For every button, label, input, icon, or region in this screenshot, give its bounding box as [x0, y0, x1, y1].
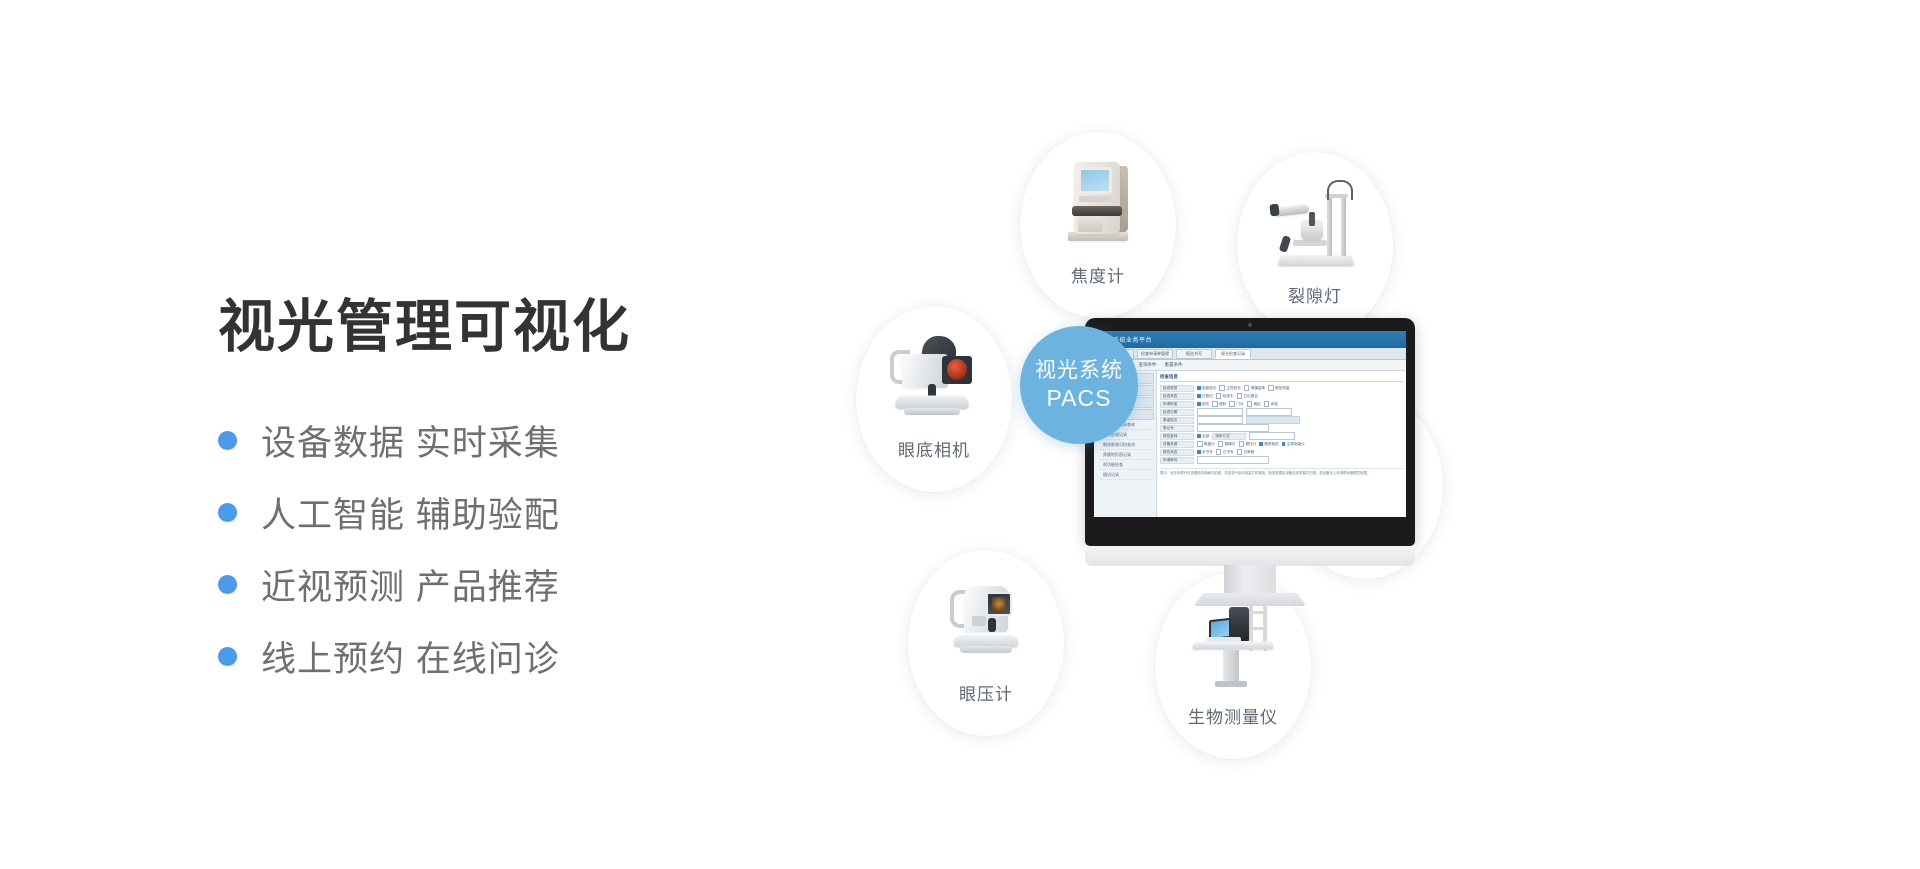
checkbox-option[interactable]: 角膜曲率 [1244, 385, 1265, 391]
tab-exam-request[interactable]: 检查申请单管理 [1137, 349, 1173, 359]
sidebar-subitem-fundus-archive[interactable]: 眼底影像归档查询 [1100, 441, 1154, 450]
sidebar-subitem-visual-function[interactable]: 视功能检查 [1100, 461, 1154, 470]
device-label: 裂隙灯 [1288, 282, 1342, 307]
bullet-dot-icon [218, 647, 237, 666]
checkbox-option[interactable]: 门诊 [1229, 401, 1243, 407]
hub-acronym: PACS [1047, 384, 1112, 413]
sidebar-subitem-followup[interactable]: 随访记录 [1100, 471, 1154, 480]
radio-option[interactable]: 未书写 [1197, 450, 1213, 455]
request-number-input[interactable] [1197, 456, 1269, 465]
left-content-panel: 视光管理可视化 设备数据 实时采集 人工智能 辅助验配 近视预测 产品推荐 线上… [218, 296, 778, 693]
field-label: 报告医师 [1160, 433, 1194, 440]
device-node-slit-lamp[interactable]: 裂隙灯 [1237, 152, 1393, 338]
app-titlebar: 视光系统业务平台 [1094, 331, 1406, 348]
radio-option[interactable]: 已审核 [1237, 449, 1255, 455]
table-row: 检查状态 已登记 检查中 已出报告 [1160, 392, 1403, 400]
device-label: 眼压计 [959, 680, 1013, 705]
app-form-area: 检查信息 检查类型 电脑验光 主觉验光 角膜曲率 眼压测量 检查状态 已登记 [1157, 371, 1406, 517]
radio-option[interactable]: 全部 [1197, 434, 1209, 439]
checkbox-option[interactable]: 生物测量仪 [1282, 442, 1305, 447]
monitor-bezel: 视光系统业务平台 患者信息登记 检查申请单管理 报告书写 视光检查记录 新增检查… [1085, 318, 1415, 546]
bullet-dot-icon [218, 431, 237, 450]
page-title: 视光管理可视化 [218, 296, 778, 359]
list-item: 线上预约 在线问诊 [218, 621, 778, 693]
checkbox-option[interactable]: 眼压测量 [1268, 385, 1289, 391]
field-label: 检查类型 [1160, 385, 1194, 392]
device-ecosystem-diagram: 视光系统业务平台 患者信息登记 检查申请单管理 报告书写 视光检查记录 新增检查… [900, 60, 1920, 820]
field-label: 报告状态 [1160, 449, 1194, 456]
monitor-stand-neck [1224, 565, 1276, 595]
webcam-icon [1248, 323, 1252, 327]
checkbox-option[interactable]: 眼科 [1212, 401, 1226, 407]
device-label: 眼底相机 [898, 436, 970, 461]
feature-list: 设备数据 实时采集 人工智能 辅助验配 近视预测 产品推荐 线上预约 在线问诊 [218, 405, 778, 693]
toolbar-query-button[interactable]: 查询条件 [1139, 362, 1157, 368]
bullet-dot-icon [218, 575, 237, 594]
lensmeter-icon [1048, 154, 1148, 258]
slit-lamp-icon [1265, 174, 1365, 278]
field-label: 排序方式 [1212, 433, 1246, 440]
monitor-chin [1085, 546, 1415, 566]
form-footer-note: 提示：双击列表行可查看检查明细与影像；勾选多行后可批量打印报告。检查数据由设备自… [1160, 468, 1403, 476]
checkbox-option[interactable]: 焦度计 [1197, 441, 1215, 447]
desktop-monitor: 视光系统业务平台 患者信息登记 检查申请单管理 报告书写 视光检查记录 新增检查… [1085, 318, 1415, 608]
device-label: 焦度计 [1071, 262, 1125, 287]
feature-label: 设备数据 实时采集 [261, 415, 560, 466]
tonometer-icon [936, 572, 1036, 676]
checkbox-option[interactable]: 检查中 [1216, 393, 1234, 399]
sidebar-subitem-topography[interactable]: 角膜地形图记录 [1100, 451, 1154, 460]
form-panel-title: 检查信息 [1160, 374, 1403, 382]
checkbox-option[interactable]: 已出报告 [1237, 393, 1258, 399]
table-row: 申请单号 [1160, 456, 1403, 464]
field-label: 检查日期 [1160, 409, 1194, 416]
list-item: 近视预测 产品推荐 [218, 549, 778, 621]
list-item: 人工智能 辅助验配 [218, 477, 778, 549]
checkbox-option[interactable]: 裂隙灯 [1218, 441, 1236, 447]
sort-order-select[interactable] [1249, 432, 1295, 441]
feature-label: 近视预测 产品推荐 [261, 559, 560, 610]
tab-optometry-records[interactable]: 视光检查记录 [1215, 349, 1251, 359]
table-row: 报告医师 全部 排序方式 [1160, 432, 1403, 440]
checkbox-option[interactable]: 已登记 [1197, 394, 1213, 399]
feature-label: 线上预约 在线问诊 [261, 631, 560, 682]
field-label: 设备来源 [1160, 441, 1194, 448]
app-toolbar: 新增检查申请单 查询条件 重置条件 [1094, 360, 1406, 371]
monitor-stand-base [1194, 593, 1306, 606]
app-body: 患者管理 登记预约 检查项目管理 报告管理 视光检查记录查询 验光配镜记录 眼底… [1094, 371, 1406, 517]
field-label: 患者姓名 [1160, 417, 1194, 424]
table-row: 检查类型 电脑验光 主觉验光 角膜曲率 眼压测量 [1160, 384, 1403, 392]
checkbox-option[interactable]: 视光 [1197, 402, 1209, 407]
radio-option[interactable]: 已书写 [1216, 449, 1234, 455]
field-label: 检查状态 [1160, 393, 1194, 400]
checkbox-option[interactable]: 体检 [1264, 401, 1278, 407]
app-tab-strip: 患者信息登记 检查申请单管理 报告书写 视光检查记录 [1094, 348, 1406, 360]
tab-report-writing[interactable]: 报告书写 [1176, 349, 1212, 359]
fundus-camera-icon [884, 328, 984, 432]
checkbox-option[interactable]: 主觉验光 [1219, 385, 1240, 391]
field-label: 申请单号 [1160, 457, 1194, 464]
hero-banner: 视光管理可视化 设备数据 实时采集 人工智能 辅助验配 近视预测 产品推荐 线上… [0, 0, 1920, 869]
device-node-tonometer[interactable]: 眼压计 [908, 550, 1064, 736]
checkbox-option[interactable]: 眼压计 [1239, 441, 1257, 447]
device-label: 生物测量仪 [1188, 703, 1278, 728]
field-label: 申请科室 [1160, 401, 1194, 408]
list-item: 设备数据 实时采集 [218, 405, 778, 477]
toolbar-reset-button[interactable]: 重置条件 [1165, 362, 1183, 368]
monitor-screen: 视光系统业务平台 患者信息登记 检查申请单管理 报告书写 视光检查记录 新增检查… [1094, 331, 1406, 517]
checkbox-option[interactable]: 病区 [1247, 401, 1261, 407]
pacs-hub-badge: 视光系统 PACS [1020, 326, 1138, 444]
feature-label: 人工智能 辅助验配 [261, 487, 560, 538]
device-node-fundus-camera[interactable]: 眼底相机 [856, 306, 1012, 492]
hub-system-name: 视光系统 [1035, 358, 1123, 384]
device-node-lensmeter[interactable]: 焦度计 [1020, 132, 1176, 318]
biometer-icon [1183, 595, 1283, 699]
bullet-dot-icon [218, 503, 237, 522]
checkbox-option[interactable]: 电脑验光 [1197, 386, 1216, 391]
field-label: 登记号 [1160, 425, 1194, 432]
table-row: 设备来源 焦度计 裂隙灯 眼压计 眼底相机 生物测量仪 [1160, 440, 1403, 448]
checkbox-option[interactable]: 眼底相机 [1259, 442, 1278, 447]
